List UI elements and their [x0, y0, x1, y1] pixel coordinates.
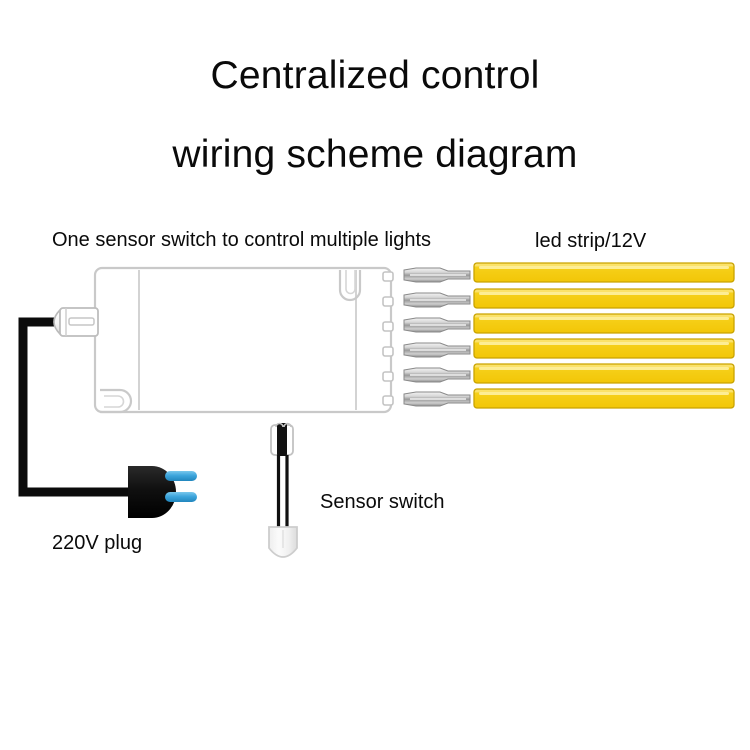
led-connector-pin	[404, 392, 470, 406]
led-connector-pin	[404, 293, 470, 307]
transformer-output-slot	[383, 396, 393, 405]
led-strip-group	[474, 263, 734, 408]
diagram-canvas: Centralized control wiring scheme diagra…	[0, 0, 750, 750]
transformer-device	[95, 268, 393, 412]
sensor-switch-device	[269, 423, 297, 557]
led-strip	[474, 263, 734, 282]
transformer-output-slot	[383, 347, 393, 356]
sensor-switch-connector-core	[277, 423, 287, 456]
led-connector-pin	[404, 343, 470, 357]
led-connector-pin	[404, 368, 470, 382]
wiring-diagram-illustration	[0, 0, 750, 750]
transformer-output-slot	[383, 297, 393, 306]
transformer-output-slot	[383, 272, 393, 281]
led-strip	[474, 364, 734, 383]
transformer-output-slot	[383, 372, 393, 381]
led-strip	[474, 289, 734, 308]
led-connector-pin	[404, 318, 470, 332]
led-strip	[474, 314, 734, 333]
transformer-input-connector	[54, 308, 98, 336]
led-connector-pin	[404, 268, 470, 282]
plug-prong-top	[165, 471, 197, 481]
plug-prong-bottom	[165, 492, 197, 502]
led-strip	[474, 389, 734, 408]
led-strip	[474, 339, 734, 358]
transformer-output-slot	[383, 322, 393, 331]
led-connector-pins	[404, 268, 470, 406]
